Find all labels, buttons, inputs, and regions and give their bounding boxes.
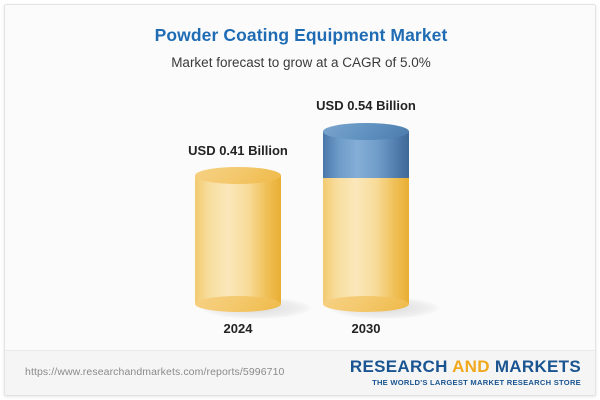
bar-body-base-2024 [195, 175, 281, 304]
bar-bottom-cap-2024 [195, 296, 281, 312]
research-and-markets-logo[interactable]: RESEARCH AND MARKETS THE WORLD'S LARGEST… [350, 357, 581, 387]
chart-card: Powder Coating Equipment Market Market f… [4, 4, 596, 396]
logo-tagline: THE WORLD'S LARGEST MARKET RESEARCH STOR… [350, 378, 581, 387]
bar-top-cap-2030 [323, 123, 409, 140]
bar-body-base-2030 [323, 177, 409, 304]
chart-plot-area: USD 0.41 Billion 2024 USD 0.54 Billion [5, 5, 596, 350]
source-url[interactable]: https://www.researchandmarkets.com/repor… [25, 366, 284, 378]
bar-bottom-cap-2030 [323, 296, 409, 312]
logo-word-and: AND [448, 357, 495, 376]
bar-top-cap-2024 [195, 167, 281, 184]
logo-word-markets: MARKETS [495, 357, 581, 376]
bar-category-label-2030: 2030 [276, 321, 456, 336]
chart-footer: https://www.researchandmarkets.com/repor… [5, 350, 596, 395]
logo-wordmark: RESEARCH AND MARKETS [350, 357, 581, 377]
logo-word-research: RESEARCH [350, 357, 448, 376]
bar-value-label-2030: USD 0.54 Billion [276, 98, 456, 113]
bar-value-label-2024: USD 0.41 Billion [148, 143, 328, 158]
